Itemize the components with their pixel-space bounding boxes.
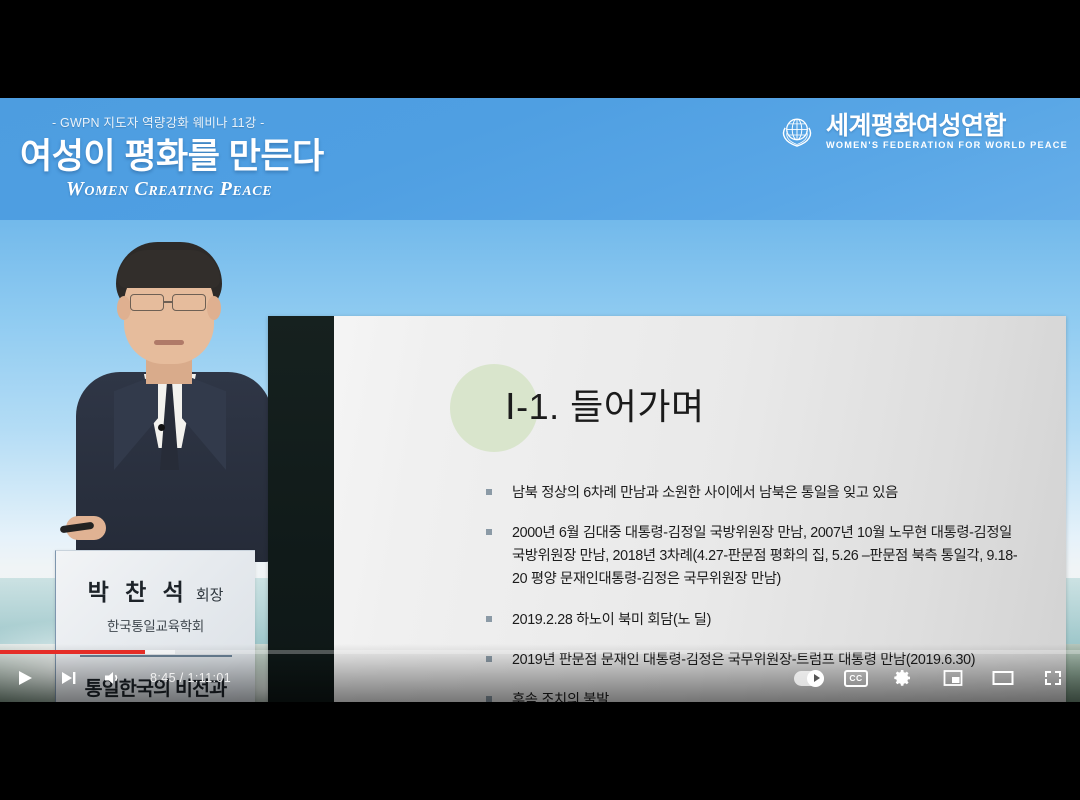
miniplayer-icon bbox=[943, 669, 963, 687]
presenter-hair-front bbox=[118, 250, 220, 288]
settings-gear-icon bbox=[893, 668, 913, 688]
presenter-video-figure bbox=[62, 228, 282, 558]
bullet-marker-icon bbox=[486, 529, 492, 535]
next-video-icon bbox=[60, 669, 78, 687]
video-player[interactable]: - GWPN 지도자 역량강화 웨비나 11강 - 여성이 평화를 만든다 Wo… bbox=[0, 98, 1080, 702]
next-video-button[interactable] bbox=[54, 663, 84, 693]
presenter-name-row: 박 찬 석 회장 bbox=[56, 573, 255, 607]
banner-title: 여성이 평화를 만든다 bbox=[20, 128, 324, 179]
presenter-ear-right bbox=[207, 296, 221, 320]
slide-title: Ⅰ-1. 들어가며 bbox=[505, 378, 705, 430]
fullscreen-icon bbox=[1043, 669, 1063, 687]
miniplayer-button[interactable] bbox=[938, 663, 968, 693]
organization-logo: 세계평화여성연합 WOMEN'S FEDERATION FOR WORLD PE… bbox=[778, 112, 1068, 150]
play-button[interactable] bbox=[10, 663, 40, 693]
controls-right-group: CC bbox=[794, 654, 1068, 702]
lapel-microphone-icon bbox=[158, 424, 165, 431]
globe-laurel-icon bbox=[778, 112, 816, 150]
presenter-mouth bbox=[154, 340, 184, 345]
closed-captions-button[interactable]: CC bbox=[844, 670, 868, 687]
bullet-marker-icon bbox=[486, 489, 492, 495]
player-controls-overlay: 8:45 / 1:11:01 CC bbox=[0, 644, 1080, 702]
bullet-text: 2000년 6월 김대중 대통령-김정일 국방위원장 만남, 2007년 10월… bbox=[512, 522, 1022, 591]
presenter-glasses-left bbox=[130, 294, 164, 311]
screenshot-root: - GWPN 지도자 역량강화 웨비나 11강 - 여성이 평화를 만든다 Wo… bbox=[0, 0, 1080, 800]
presenter-role: 회장 bbox=[196, 584, 224, 605]
presenter-glasses-bridge bbox=[164, 301, 172, 303]
webinar-banner: - GWPN 지도자 역량강화 웨비나 11강 - 여성이 평화를 만든다 Wo… bbox=[0, 98, 1080, 220]
control-row: 8:45 / 1:11:01 CC bbox=[0, 654, 1080, 702]
autoplay-toggle[interactable] bbox=[794, 671, 824, 686]
presenter-name: 박 찬 석 bbox=[88, 573, 189, 607]
time-display: 8:45 / 1:11:01 bbox=[150, 671, 231, 685]
bullet-text: 2019.2.28 하노이 북미 회담(노 딜) bbox=[512, 609, 711, 632]
theater-mode-icon bbox=[992, 669, 1014, 687]
volume-button[interactable] bbox=[98, 663, 128, 693]
presenter-glasses-right bbox=[172, 294, 206, 311]
list-item: 2019.2.28 하노이 북미 회담(노 딜) bbox=[486, 609, 1022, 632]
play-icon bbox=[16, 669, 34, 687]
logo-english-name: WOMEN'S FEDERATION FOR WORLD PEACE bbox=[826, 140, 1068, 150]
presenter-organization: 한국통일교육학회 bbox=[56, 615, 255, 635]
autoplay-toggle-knob bbox=[807, 670, 824, 687]
theater-mode-button[interactable] bbox=[988, 663, 1018, 693]
bullet-marker-icon bbox=[486, 616, 492, 622]
presenter-ear-left bbox=[117, 296, 131, 320]
bullet-text: 남북 정상의 6차례 만남과 소원한 사이에서 남북은 통일을 잊고 있음 bbox=[512, 482, 898, 505]
logo-korean-name: 세계평화여성연합 bbox=[826, 113, 1006, 139]
list-item: 남북 정상의 6차례 만남과 소원한 사이에서 남북은 통일을 잊고 있음 bbox=[486, 482, 1022, 505]
controls-left-group: 8:45 / 1:11:01 bbox=[10, 654, 231, 702]
settings-button[interactable] bbox=[888, 663, 918, 693]
banner-subtitle: Women Creating Peace bbox=[66, 178, 272, 201]
volume-icon bbox=[103, 669, 123, 687]
list-item: 2000년 6월 김대중 대통령-김정일 국방위원장 만남, 2007년 10월… bbox=[486, 522, 1022, 591]
fullscreen-button[interactable] bbox=[1038, 663, 1068, 693]
